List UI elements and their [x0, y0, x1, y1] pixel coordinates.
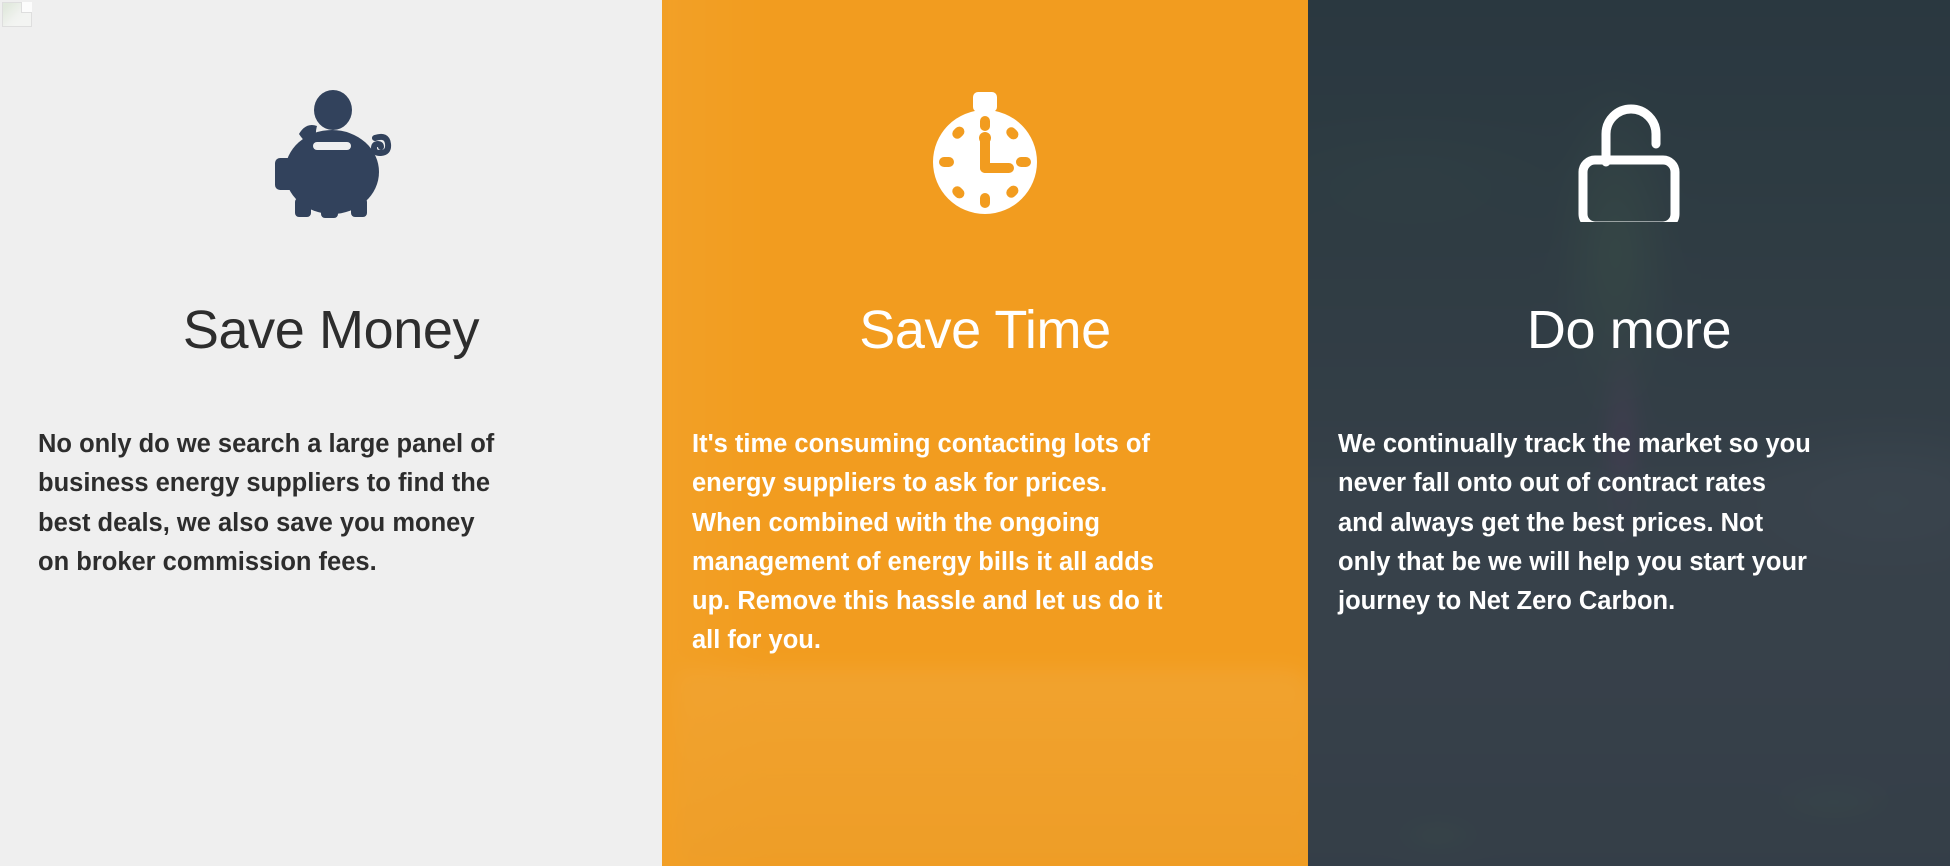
page-title-do-more: Do more [1308, 302, 1950, 359]
page-title-save-money: Save Money [0, 302, 662, 359]
benefit-card-do-more: Do more We continually track the market … [1308, 0, 1950, 866]
open-padlock-icon-wrap [1308, 88, 1950, 224]
piggy-bank-icon-wrap [0, 88, 662, 224]
stopwatch-icon-wrap [662, 88, 1308, 224]
benefits-strip: Save Money No only do we search a large … [0, 0, 1950, 866]
stopwatch-icon [921, 90, 1049, 222]
piggy-bank-icon [269, 90, 393, 222]
benefit-card-save-money: Save Money No only do we search a large … [0, 0, 662, 866]
benefit-description-save-time: It's time consuming contacting lots of e… [692, 425, 1174, 661]
broken-image-icon [2, 2, 32, 27]
open-padlock-icon [1567, 90, 1691, 222]
benefit-description-do-more: We continually track the market so you n… [1338, 425, 1816, 621]
benefit-description-save-money: No only do we search a large panel of bu… [38, 425, 508, 582]
benefit-card-save-time: Save Time It's time consuming contacting… [662, 0, 1308, 866]
page-title-save-time: Save Time [662, 302, 1308, 359]
